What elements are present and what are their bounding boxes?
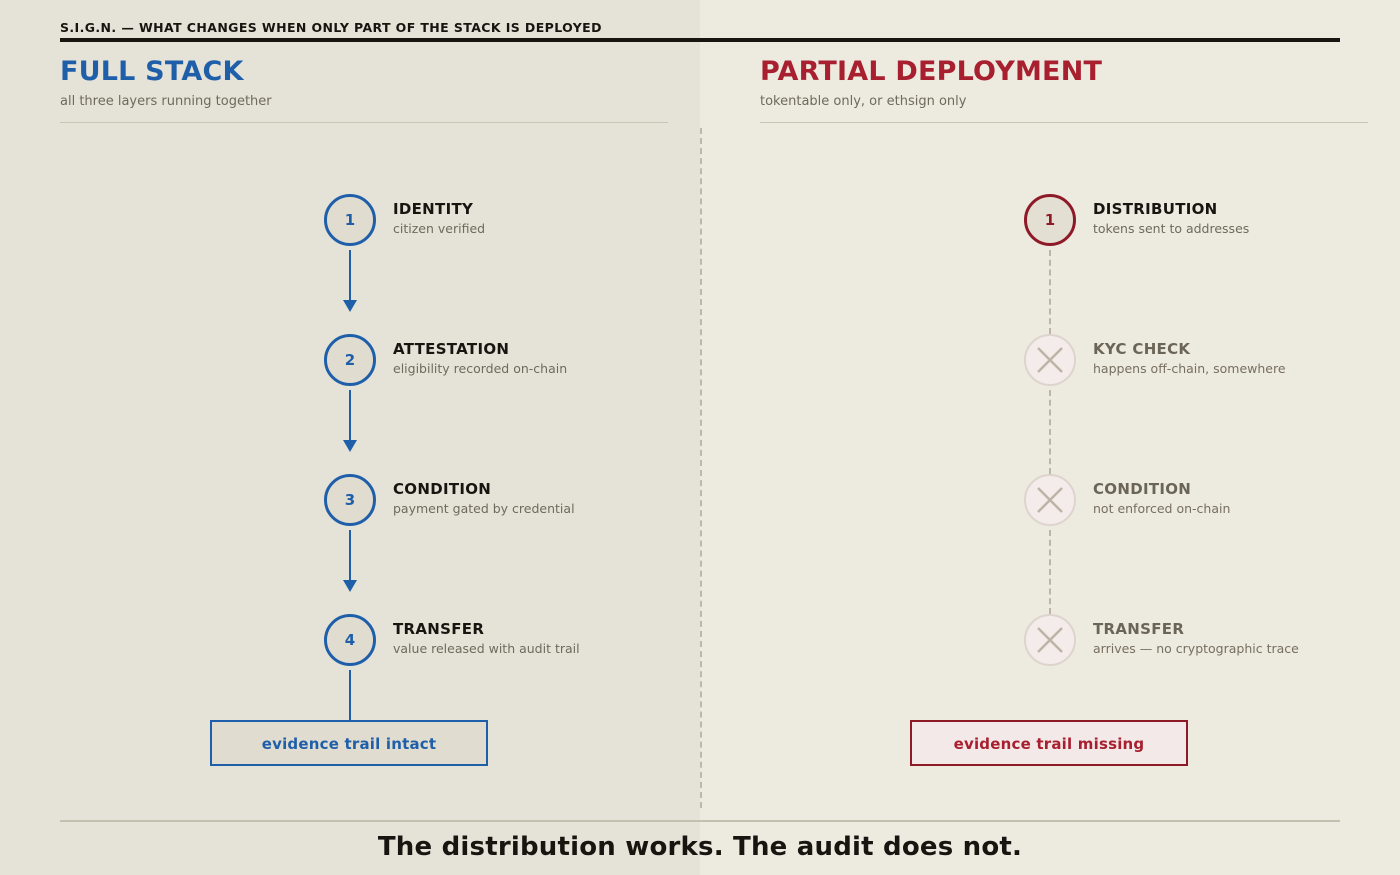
column-title-partial-deployment: PARTIAL DEPLOYMENT	[760, 55, 1370, 89]
connector-dashed-3-4	[1049, 530, 1051, 614]
step-description: payment gated by credential	[393, 501, 813, 517]
step-label: TRANSFER value released with audit trail	[393, 620, 813, 657]
connector-dashed-2-3	[1049, 390, 1051, 474]
step-number: 4	[324, 614, 376, 666]
step-title: DISTRIBUTION	[1093, 200, 1400, 218]
step-label: IDENTITY citizen verified	[393, 200, 813, 237]
step-label: CONDITION payment gated by credential	[393, 480, 813, 517]
arrowhead-3-4	[343, 580, 357, 592]
connector-4-outcome	[349, 670, 351, 720]
step-description: happens off-chain, somewhere	[1093, 361, 1400, 377]
step-description: not enforced on-chain	[1093, 501, 1400, 517]
column-subtitle-full-stack: all three layers running together	[60, 94, 670, 109]
outcome-box-partial-deployment[interactable]: evidence trail missing	[910, 720, 1188, 766]
step-number: 3	[324, 474, 376, 526]
arrowhead-2-3	[343, 440, 357, 452]
step-title: KYC CHECK	[1093, 340, 1400, 358]
header-divider	[60, 38, 1340, 42]
step-node-attestation[interactable]: 2 ATTESTATION eligibility recorded on-ch…	[324, 334, 376, 386]
outcome-box-full-stack[interactable]: evidence trail intact	[210, 720, 488, 766]
footer-conclusion: The distribution works. The audit does n…	[0, 832, 1400, 862]
column-title-full-stack: FULL STACK	[60, 55, 670, 89]
step-title: CONDITION	[1093, 480, 1400, 498]
step-number: 1	[324, 194, 376, 246]
step-label: ATTESTATION eligibility recorded on-chai…	[393, 340, 813, 377]
connector-dashed-1-2	[1049, 250, 1051, 334]
column-subtitle-partial-deployment: tokentable only, or ethsign only	[760, 94, 1370, 109]
step-description: citizen verified	[393, 221, 813, 237]
column-header-full-stack: FULL STACK all three layers running toge…	[60, 55, 670, 123]
step-title: TRANSFER	[393, 620, 813, 638]
column-rule-left	[60, 122, 668, 123]
step-node-transfer[interactable]: 4 TRANSFER value released with audit tra…	[324, 614, 376, 666]
step-node-identity[interactable]: 1 IDENTITY citizen verified	[324, 194, 376, 246]
connector-1-2	[349, 250, 351, 302]
connector-3-4	[349, 530, 351, 582]
step-node-kyc-check[interactable]: KYC CHECK happens off-chain, somewhere	[1024, 334, 1076, 386]
step-title: IDENTITY	[393, 200, 813, 218]
cross-icon	[1024, 474, 1076, 526]
step-description: value released with audit trail	[393, 641, 813, 657]
step-title: TRANSFER	[1093, 620, 1400, 638]
step-description: arrives — no cryptographic trace	[1093, 641, 1400, 657]
outcome-label: evidence trail missing	[912, 722, 1186, 766]
connector-2-3	[349, 390, 351, 442]
step-description: tokens sent to addresses	[1093, 221, 1400, 237]
step-title: ATTESTATION	[393, 340, 813, 358]
step-number: 2	[324, 334, 376, 386]
diagram-canvas: S.I.G.N. — WHAT CHANGES WHEN ONLY PART O…	[0, 0, 1400, 875]
step-node-condition-disabled[interactable]: CONDITION not enforced on-chain	[1024, 474, 1076, 526]
column-header-partial-deployment: PARTIAL DEPLOYMENT tokentable only, or e…	[760, 55, 1370, 123]
step-number: 1	[1024, 194, 1076, 246]
footer-divider	[60, 820, 1340, 822]
step-description: eligibility recorded on-chain	[393, 361, 813, 377]
page-kicker: S.I.G.N. — WHAT CHANGES WHEN ONLY PART O…	[60, 20, 602, 35]
step-label: DISTRIBUTION tokens sent to addresses	[1093, 200, 1400, 237]
step-node-condition[interactable]: 3 CONDITION payment gated by credential	[324, 474, 376, 526]
step-node-distribution[interactable]: 1 DISTRIBUTION tokens sent to addresses	[1024, 194, 1076, 246]
outcome-label: evidence trail intact	[212, 722, 486, 766]
step-label: KYC CHECK happens off-chain, somewhere	[1093, 340, 1400, 377]
step-title: CONDITION	[393, 480, 813, 498]
step-label: CONDITION not enforced on-chain	[1093, 480, 1400, 517]
step-label: TRANSFER arrives — no cryptographic trac…	[1093, 620, 1400, 657]
column-rule-right	[760, 122, 1368, 123]
cross-icon	[1024, 334, 1076, 386]
step-node-transfer-disabled[interactable]: TRANSFER arrives — no cryptographic trac…	[1024, 614, 1076, 666]
arrowhead-1-2	[343, 300, 357, 312]
cross-icon	[1024, 614, 1076, 666]
